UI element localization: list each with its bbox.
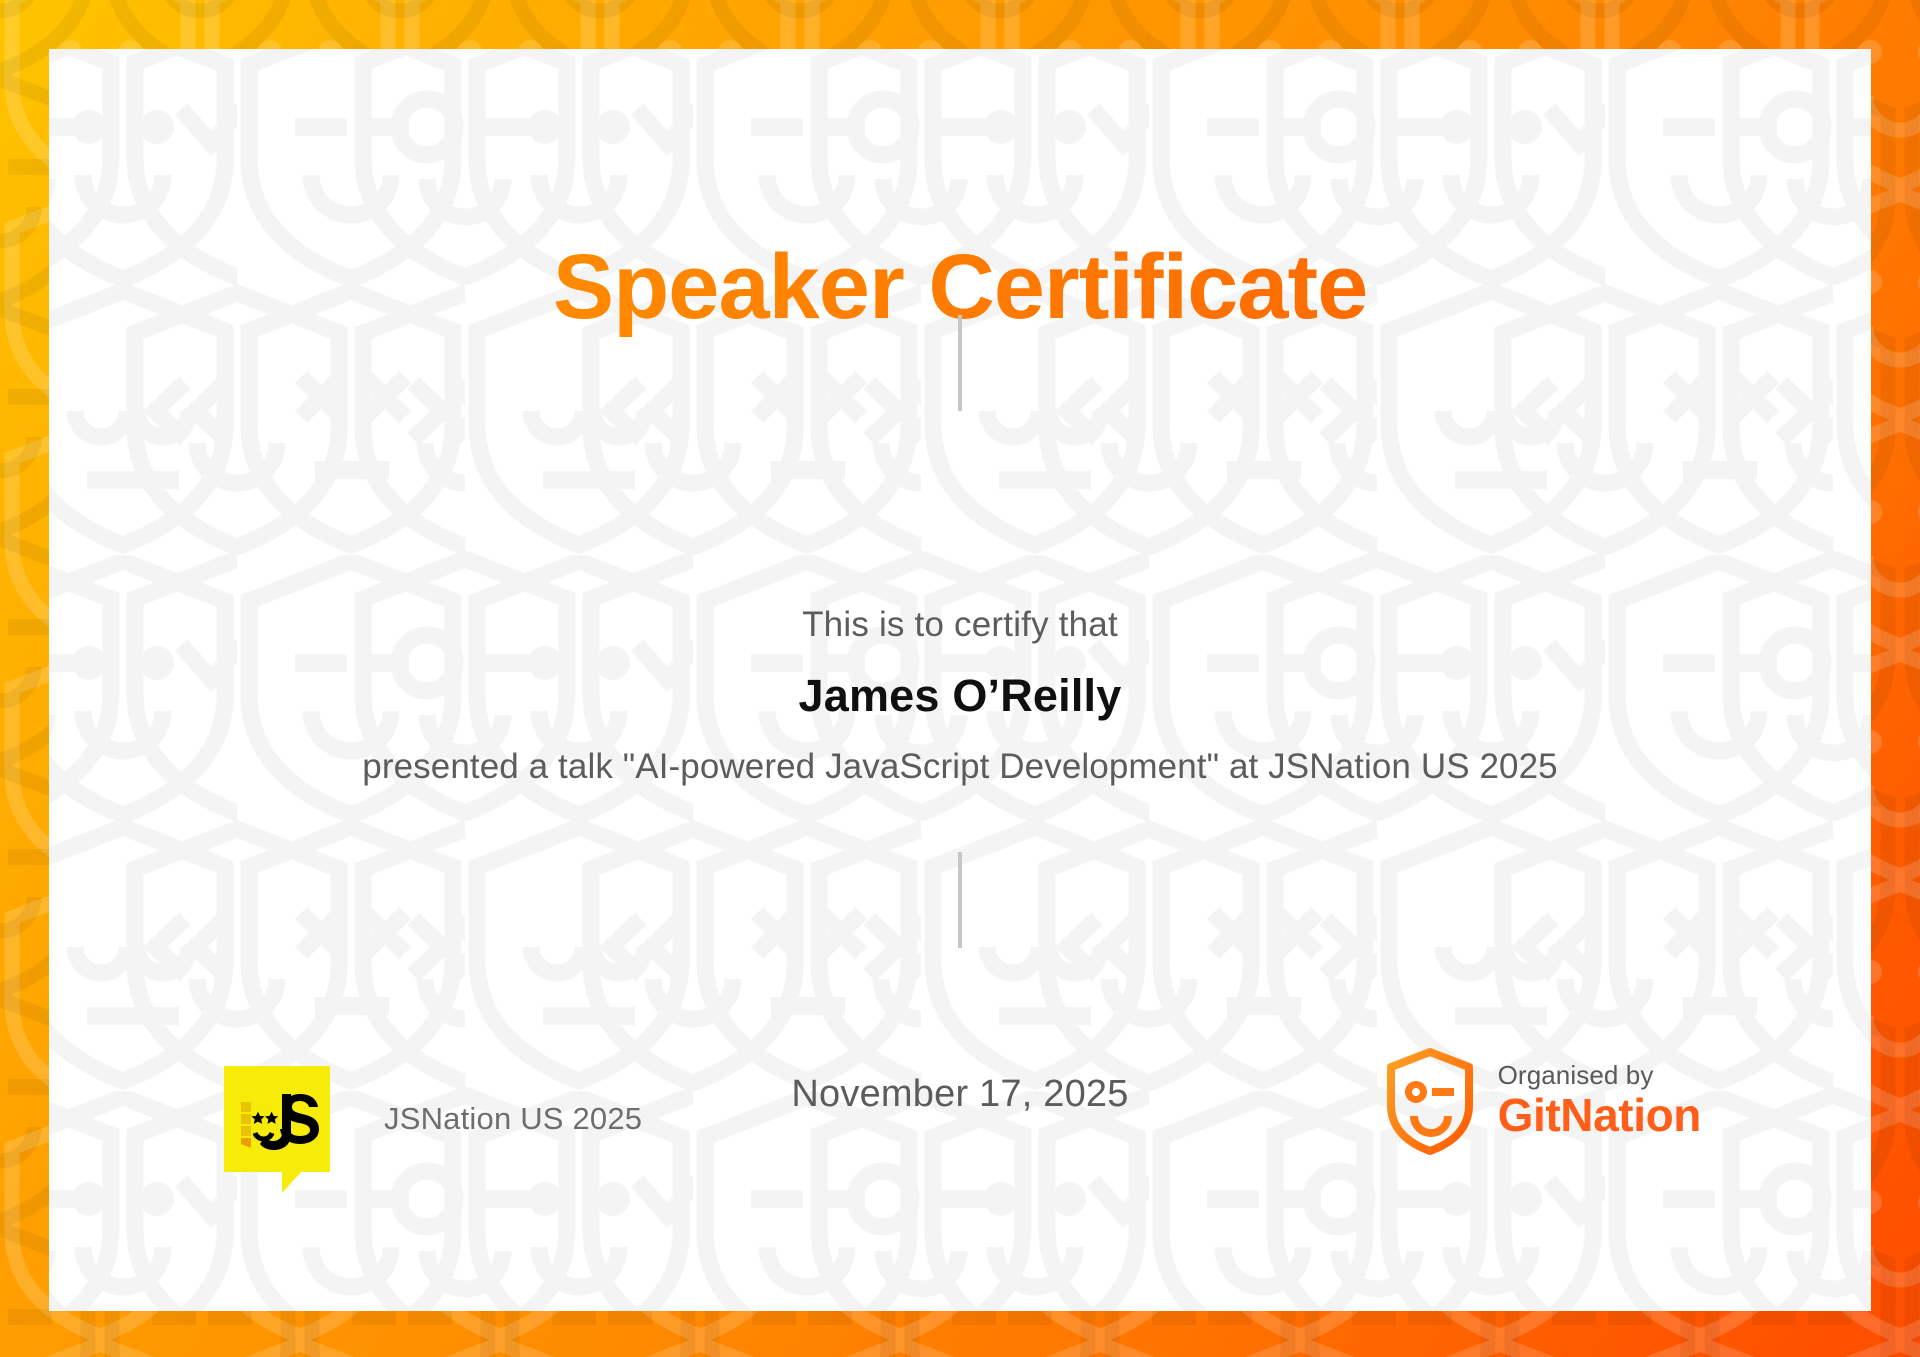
certificate-card: Speaker Certificate This is to certify t… [49,49,1871,1311]
certificate-frame: Speaker Certificate This is to certify t… [0,0,1920,1357]
talk-description: presented a talk "AI-powered JavaScript … [49,747,1871,787]
certificate-body: This is to certify that James O’Reilly p… [49,603,1871,787]
organiser-block: Organised by GitNation [1384,1047,1701,1155]
event-block: JSNation US 2025 [224,1039,642,1199]
organised-by-label: Organised by [1498,1061,1701,1089]
gitnation-shield-icon [1384,1047,1476,1155]
certificate-footer: JSNation US 2025 November 17, 2025 [49,1039,1871,1199]
divider-bottom [958,852,962,948]
divider-top [958,315,962,411]
recipient-name: James O’Reilly [49,670,1871,722]
gitnation-wordmark: GitNation [1498,1091,1701,1141]
certify-line: This is to certify that [49,603,1871,647]
